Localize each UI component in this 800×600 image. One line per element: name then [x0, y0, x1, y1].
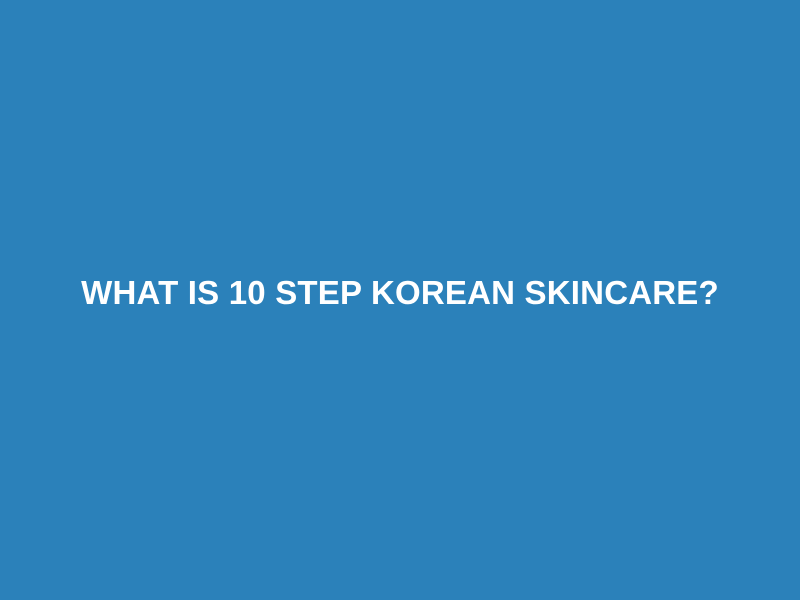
headline-container: What is 10 Step Korean Skincare? [0, 0, 800, 586]
title-card: What is 10 Step Korean Skincare? [0, 0, 800, 600]
page-title: What is 10 Step Korean Skincare? [81, 273, 719, 313]
